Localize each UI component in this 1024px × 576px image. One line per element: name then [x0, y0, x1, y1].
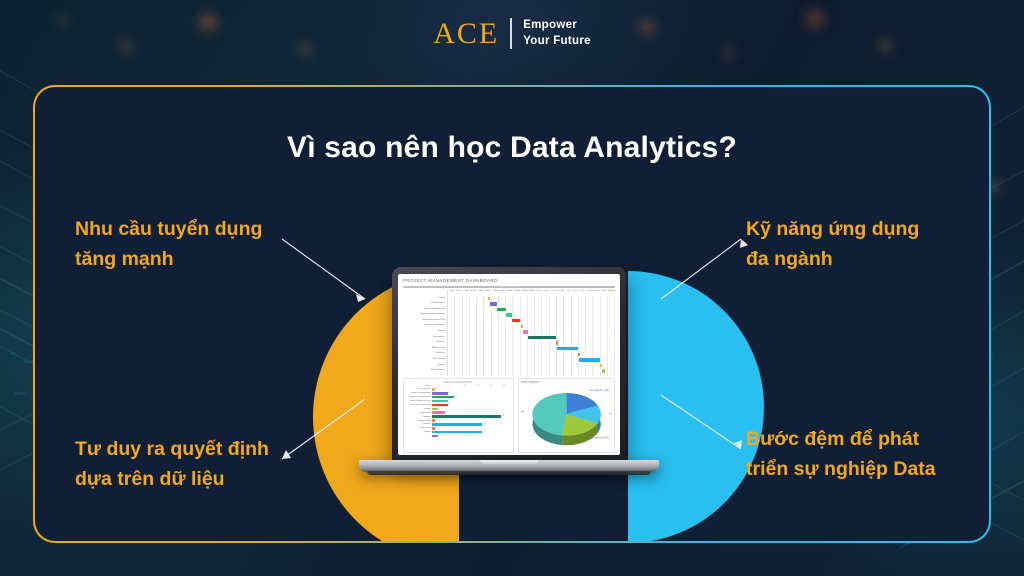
laptop-base: [359, 460, 659, 472]
days-chart-value: 16: [483, 430, 485, 432]
gantt-header-label: TASK TIMELINE: [500, 286, 519, 288]
content-panel-inner: Vì sao nên học Data Analytics? Nhu cầu t…: [35, 87, 989, 541]
gantt-bar: [556, 341, 558, 344]
gantt-bar: [557, 347, 578, 350]
callout-buoc-dem-su-nghiep: Bước đệm để phát triển sự nghiệp Data: [746, 425, 936, 484]
status-pie-label: Not Started (20): [587, 436, 609, 440]
days-chart-bar: [432, 427, 435, 430]
gantt-bar: [506, 313, 512, 316]
gantt-bar: [600, 364, 602, 367]
status-pie-label: Delayed (48): [521, 410, 524, 414]
days-for-project-card: DAYS FOR PROJECT KickoffSet ObjectivesPr…: [403, 378, 514, 454]
dashboard-lower-row: DAYS FOR PROJECT KickoffSet ObjectivesPr…: [403, 378, 615, 454]
days-chart-bar: [432, 408, 438, 411]
days-chart-labels: KickoffSet ObjectivesProject Requirement…: [406, 385, 432, 451]
laptop-lid: PROJECT MANAGEMENT DASHBOARD TASK TIMELI…: [392, 267, 626, 463]
logo-divider: [510, 18, 512, 49]
gantt-bar: [578, 353, 580, 356]
status-chart-title: TASK STATUS: [521, 381, 612, 384]
callout-ky-nang-ung-dung: Kỹ năng ứng dụng đa ngành: [746, 215, 919, 274]
days-chart-bar: [432, 411, 445, 414]
gantt-bar: [579, 358, 600, 361]
days-chart-bars: 1575524221161162: [432, 388, 511, 451]
days-chart-plot: 0510152025 1575524221161162: [432, 385, 511, 451]
brand-tagline-line2: Your Future: [523, 34, 591, 50]
gantt-bars: [448, 296, 615, 376]
page-title: Vì sao nên học Data Analytics?: [35, 131, 989, 165]
gantt-bar: [528, 336, 556, 339]
days-chart-bar: [432, 400, 448, 403]
days-chart-label: Launch: [406, 431, 432, 435]
gantt-bar: [497, 308, 506, 311]
brand-logo: ACE Empower Your Future: [0, 18, 1024, 49]
brand-tagline-line1: Empower: [523, 18, 591, 34]
callout-tu-duy-quyet-dinh: Tư duy ra quyết định dựa trên dữ liệu: [75, 435, 269, 494]
days-chart-value: 4: [446, 411, 447, 413]
days-chart: KickoffSet ObjectivesProject Requirement…: [406, 385, 511, 451]
days-chart-value: 22: [502, 415, 504, 417]
days-chart-value: 2: [439, 407, 440, 409]
gantt-bar: [523, 330, 528, 333]
status-pie-chart: Complete (18)In Progress (14)Not Started…: [521, 385, 612, 450]
status-pie-label: Complete (18): [589, 388, 609, 392]
days-chart-bar: [432, 431, 482, 434]
gantt-chart: KickoffSet ObjectivesProject Requirement…: [403, 290, 615, 376]
days-chart-bar: [432, 415, 501, 418]
days-chart-bar: [432, 396, 454, 399]
gantt-bar: [488, 297, 490, 300]
days-chart-header: DAYS FOR PROJECT: [406, 381, 511, 384]
project-dashboard: PROJECT MANAGEMENT DASHBOARD TASK TIMELI…: [398, 274, 620, 455]
gantt-task-labels: KickoffSet ObjectivesProject Requirement…: [403, 290, 447, 376]
days-chart-title: DAYS FOR PROJECT: [444, 381, 472, 383]
gantt-bar: [490, 302, 496, 305]
gantt-plot: 1-Mar8-Mar15-Mar22-Mar1-Apr8-Apr15-Apr22…: [447, 290, 615, 376]
gantt-task-label: Value Planning: [403, 368, 447, 374]
days-chart-bar: [432, 392, 448, 395]
days-chart-value: 5: [449, 392, 450, 394]
gantt-bar: [602, 369, 605, 372]
days-chart-row: 2: [432, 434, 511, 438]
gantt-bar: [521, 325, 523, 328]
gantt-row: [448, 368, 615, 374]
days-chart-value: 5: [449, 399, 450, 401]
brand-name: ACE: [433, 19, 499, 49]
days-chart-bar: [432, 388, 435, 391]
days-chart-value: 5: [449, 403, 450, 405]
days-chart-value: 7: [455, 395, 456, 397]
days-chart-value: 16: [483, 423, 485, 425]
status-pie-svg: Complete (18)In Progress (14)Not Started…: [521, 385, 612, 450]
content-panel: Vì sao nên học Data Analytics? Nhu cầu t…: [33, 85, 991, 543]
laptop-screen: PROJECT MANAGEMENT DASHBOARD TASK TIMELI…: [398, 274, 620, 455]
days-chart-bar: [432, 404, 448, 407]
days-chart-value: 1: [436, 427, 437, 429]
dashboard-title: PROJECT MANAGEMENT DASHBOARD: [403, 278, 615, 283]
laptop-mockup: PROJECT MANAGEMENT DASHBOARD TASK TIMELI…: [359, 267, 659, 499]
task-status-card: TASK STATUS Complete (18)In Progress (14…: [518, 378, 615, 454]
brand-tagline: Empower Your Future: [523, 18, 591, 49]
laptop-foot: [367, 471, 651, 475]
status-pie-label: In Progress (14): [609, 411, 612, 415]
callout-nhu-cau-tuyen-dung: Nhu cầu tuyển dụng tăng mạnh: [75, 215, 262, 274]
days-chart-value: 1: [436, 419, 437, 421]
days-chart-value: 2: [439, 434, 440, 436]
days-chart-bar: [432, 423, 482, 426]
days-chart-bar: [432, 419, 435, 422]
gantt-bar: [512, 319, 520, 322]
days-chart-bar: [432, 435, 438, 438]
laptop-trackpad-notch: [480, 460, 538, 464]
gantt-header-band: TASK TIMELINE: [403, 286, 615, 288]
days-chart-value: 1: [436, 388, 437, 390]
